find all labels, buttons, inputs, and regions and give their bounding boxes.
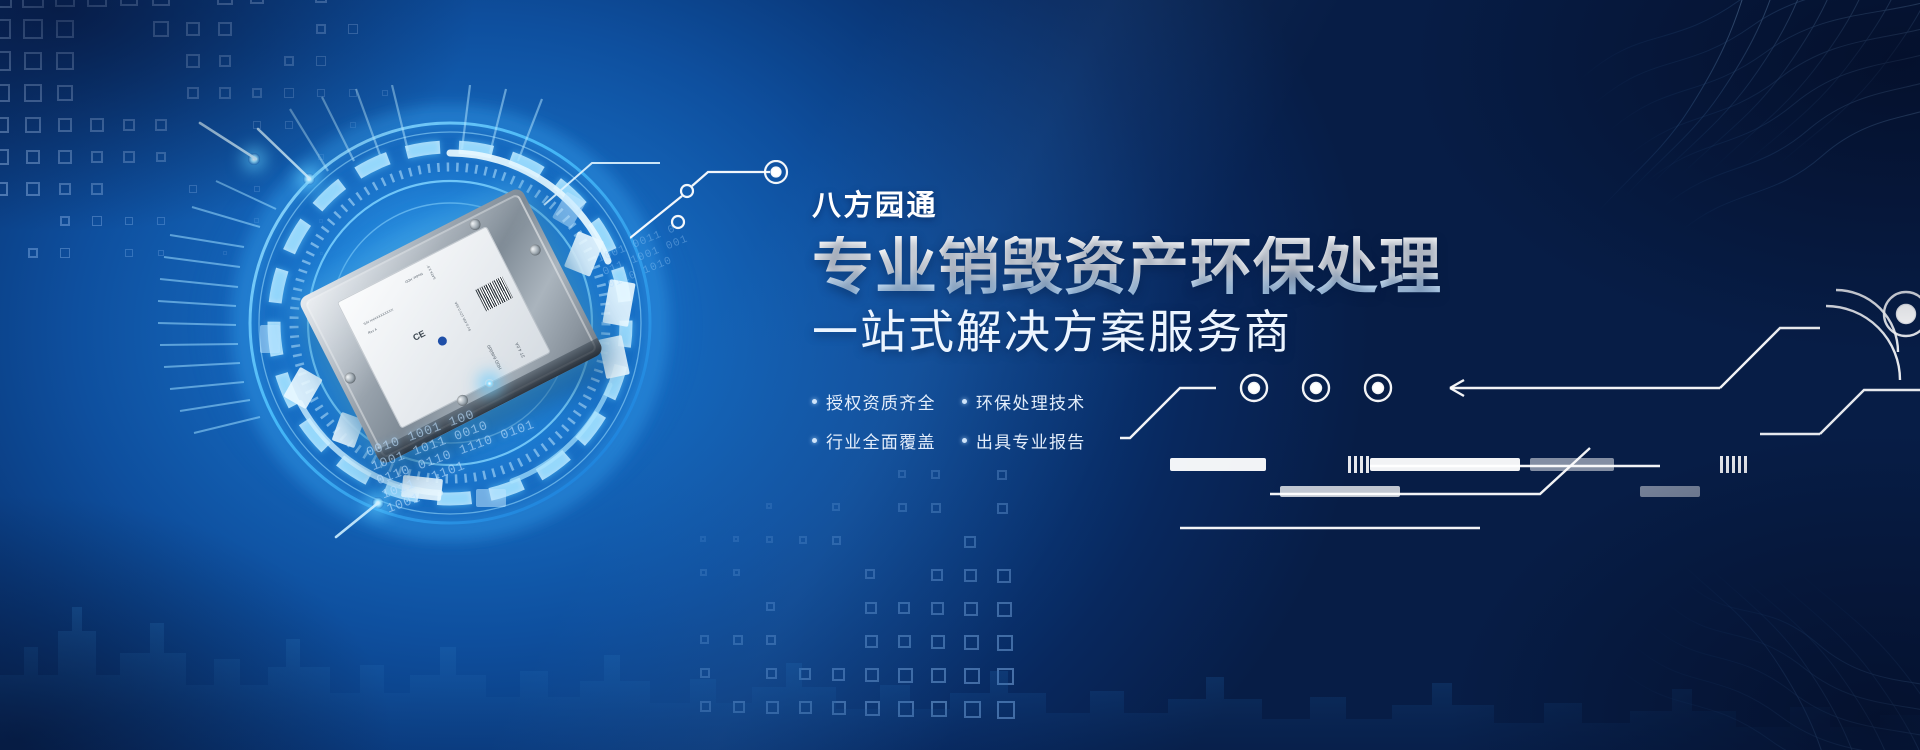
pixel-square (0, 149, 9, 164)
pixel-square (799, 536, 807, 544)
pixel-square (92, 216, 102, 226)
pixel-square (22, 0, 43, 8)
pixel-square (60, 248, 70, 258)
bullet-dot-icon (962, 438, 967, 443)
pixel-square (58, 150, 72, 164)
pixel-square (25, 117, 41, 133)
bullet-dot-icon (962, 399, 967, 404)
pixel-square (931, 602, 944, 615)
pixel-square (964, 668, 980, 684)
pixel-square (316, 24, 327, 35)
pixel-square (186, 54, 199, 67)
bullet-dot-icon (812, 399, 817, 404)
pixel-square (997, 503, 1008, 514)
bullet-dot-icon (812, 438, 817, 443)
pixel-square (898, 470, 906, 478)
pixel-square (24, 52, 42, 70)
pixel-square (865, 602, 877, 614)
pixel-square (931, 569, 943, 581)
pixel-square (91, 183, 102, 194)
brand-name: 八方园通 (812, 182, 1572, 224)
pixel-square (26, 150, 40, 164)
pixel-square (55, 0, 75, 7)
feature-bullet-list: 授权资质齐全环保处理技术行业全面覆盖出具专业报告 (812, 389, 1086, 453)
pixel-square (766, 701, 779, 714)
pixel-square (125, 217, 134, 226)
pixel-square (23, 19, 43, 39)
pixel-square (733, 635, 743, 645)
pixel-square (316, 56, 326, 66)
pixel-square (898, 668, 913, 683)
pixel-square (898, 503, 907, 512)
pixel-square (700, 668, 710, 678)
pixel-square (766, 668, 777, 679)
pixel-square (964, 536, 976, 548)
pixel-square (865, 569, 875, 579)
hard-drive-tech-ring-graphic: Model: HDD S/N XXXXXXXXXXX Rev A SATA 3.… (140, 85, 760, 555)
feature-bullet-label: 授权资质齐全 (826, 389, 936, 414)
pixel-square (28, 248, 39, 259)
pixel-square (700, 569, 707, 576)
pixel-square (58, 118, 73, 133)
pixel-square (766, 602, 775, 611)
pixel-square (865, 701, 880, 716)
pixel-square (766, 536, 773, 543)
pixel-square (733, 569, 740, 576)
pixel-square (766, 635, 776, 645)
pixel-square (284, 56, 295, 67)
pixel-square (997, 668, 1014, 685)
pixel-square (56, 20, 75, 39)
pixel-square (799, 701, 812, 714)
pixel-square (348, 24, 358, 34)
feature-bullet-label: 行业全面覆盖 (826, 428, 936, 453)
pixel-square (766, 503, 772, 509)
pixel-square (0, 182, 8, 196)
pixel-square (931, 635, 945, 649)
pixel-square (898, 701, 914, 717)
pixel-square (125, 249, 133, 257)
pixel-square (218, 22, 232, 36)
pixel-square (997, 602, 1012, 617)
circuit-board-graphic (1120, 280, 1920, 610)
pixel-square (931, 470, 940, 479)
pixel-square (964, 701, 981, 718)
feature-bullet: 环保处理技术 (962, 389, 1086, 414)
pixel-square (832, 536, 841, 545)
pixel-square (0, 117, 9, 134)
pixel-square (799, 668, 811, 680)
pixel-square (186, 22, 201, 37)
pixel-square (217, 0, 232, 5)
pixel-square (832, 503, 840, 511)
pixel-square (26, 182, 39, 195)
feature-bullet-label: 出具专业报告 (976, 428, 1086, 453)
pixel-square (964, 635, 979, 650)
pixel-square (120, 0, 138, 6)
pixel-square (0, 19, 11, 40)
pixel-square (997, 470, 1007, 480)
promotional-banner: Model: HDD S/N XXXXXXXXXXX Rev A SATA 3.… (0, 0, 1920, 750)
pixel-square (59, 183, 71, 195)
pixel-square (60, 216, 71, 227)
pixel-square (997, 635, 1013, 651)
feature-bullet: 出具专业报告 (962, 428, 1086, 453)
pixel-square (87, 0, 106, 7)
pixel-square (865, 668, 879, 682)
feature-bullet: 行业全面覆盖 (812, 428, 936, 453)
pixel-square (152, 0, 169, 6)
pixel-square (56, 52, 73, 69)
pixel-square (898, 602, 910, 614)
feature-bullet: 授权资质齐全 (812, 389, 936, 414)
pixel-square (997, 701, 1015, 719)
pixel-square (700, 701, 711, 712)
pixel-square (219, 55, 232, 68)
pixel-square (964, 569, 977, 582)
pixel-square (0, 51, 11, 70)
pixel-square (733, 701, 745, 713)
pixel-square (898, 635, 911, 648)
pixel-square (91, 151, 104, 164)
pixel-square (931, 668, 946, 683)
pixel-square (24, 84, 41, 101)
pixel-square (931, 503, 941, 513)
node-connector-line (630, 160, 830, 240)
pixel-square (0, 84, 10, 102)
pixel-square (315, 0, 327, 3)
pixel-square (832, 701, 846, 715)
feature-bullet-label: 环保处理技术 (976, 389, 1086, 414)
pixel-square (57, 85, 73, 101)
pixel-square (250, 0, 264, 4)
pixel-square (90, 118, 104, 132)
pixel-square (832, 668, 845, 681)
pixel-square (931, 701, 947, 717)
pixel-square (123, 151, 135, 163)
pixel-square (964, 602, 978, 616)
pixel-square (997, 569, 1011, 583)
pixel-square (865, 635, 878, 648)
pixel-square (153, 21, 169, 37)
pixel-square (700, 635, 709, 644)
spark-lines (140, 85, 760, 555)
pixel-square (123, 119, 136, 132)
pixel-square (0, 0, 12, 8)
